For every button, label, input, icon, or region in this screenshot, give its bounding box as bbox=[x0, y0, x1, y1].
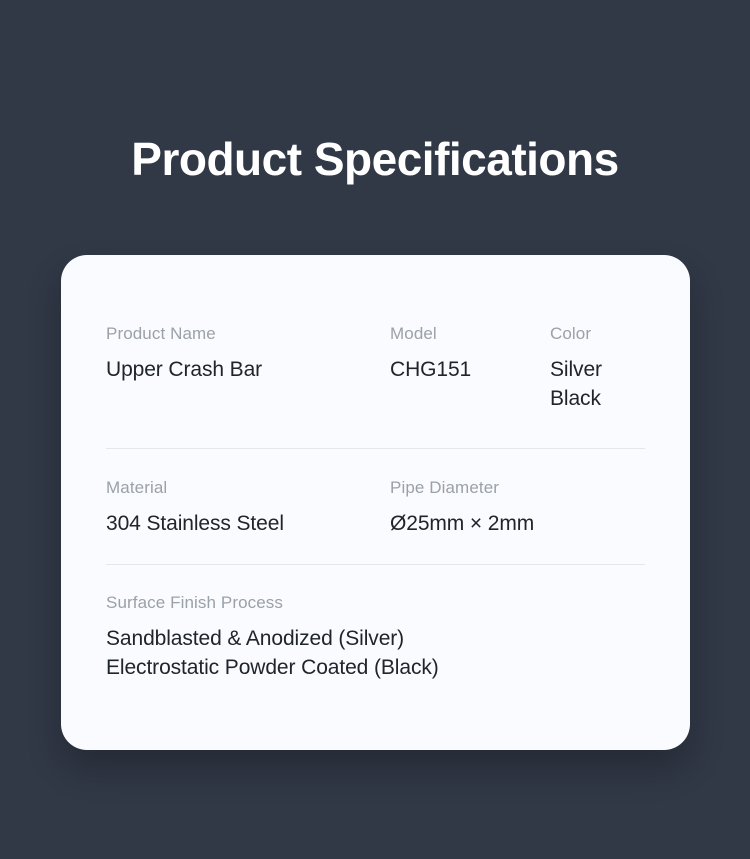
spec-label-pipe-diameter: Pipe Diameter bbox=[390, 477, 635, 499]
spec-value-pipe-diameter: Ø25mm × 2mm bbox=[390, 509, 635, 538]
spec-value-product-name: Upper Crash Bar bbox=[106, 355, 378, 384]
spec-row: Product Name Upper Crash Bar Model CHG15… bbox=[106, 255, 645, 413]
spec-value-surface-finish-line-2: Electrostatic Powder Coated (Black) bbox=[106, 653, 645, 682]
page-title: Product Specifications bbox=[0, 127, 750, 191]
spec-label-color: Color bbox=[550, 323, 638, 345]
spec-label-model: Model bbox=[390, 323, 538, 345]
specifications-card: Product Name Upper Crash Bar Model CHG15… bbox=[61, 255, 690, 750]
spec-value-surface-finish-line-1: Sandblasted & Anodized (Silver) bbox=[106, 624, 645, 653]
spec-field-model: Model CHG151 bbox=[390, 323, 550, 384]
spec-value-model: CHG151 bbox=[390, 355, 538, 384]
spec-value-surface-finish-process: Sandblasted & Anodized (Silver) Electros… bbox=[106, 624, 645, 682]
product-specifications-page: Product Specifications Product Name Uppe… bbox=[0, 0, 750, 859]
spec-field-color: Color Silver Black bbox=[550, 323, 638, 413]
spec-label-material: Material bbox=[106, 477, 378, 499]
spec-field-surface-finish-process: Surface Finish Process Sandblasted & Ano… bbox=[106, 592, 645, 682]
spec-value-material: 304 Stainless Steel bbox=[106, 509, 378, 538]
spec-field-material: Material 304 Stainless Steel bbox=[106, 477, 390, 538]
spec-label-product-name: Product Name bbox=[106, 323, 378, 345]
spec-value-color: Silver Black bbox=[550, 355, 638, 413]
spec-label-surface-finish-process: Surface Finish Process bbox=[106, 592, 645, 614]
spec-field-product-name: Product Name Upper Crash Bar bbox=[106, 323, 390, 384]
spec-row: Material 304 Stainless Steel Pipe Diamet… bbox=[106, 449, 645, 538]
spec-row: Surface Finish Process Sandblasted & Ano… bbox=[106, 565, 645, 682]
spec-value-color-line-2: Black bbox=[550, 384, 638, 413]
spec-value-color-line-1: Silver bbox=[550, 355, 638, 384]
spec-field-pipe-diameter: Pipe Diameter Ø25mm × 2mm bbox=[390, 477, 635, 538]
